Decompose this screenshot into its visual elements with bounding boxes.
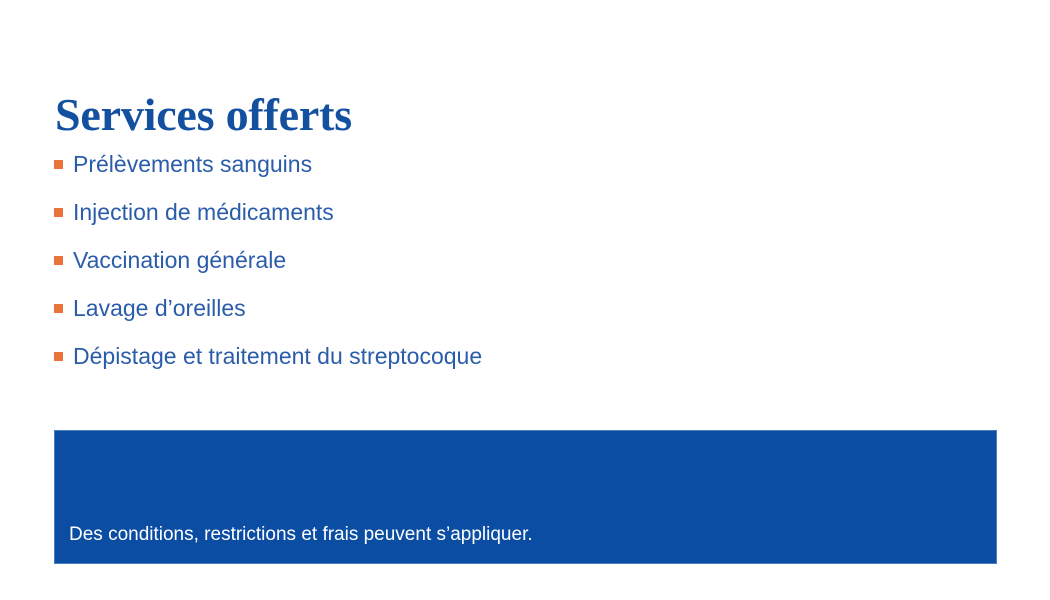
list-item: Vaccination générale [54,236,954,284]
list-item: Lavage d’oreilles [54,284,954,332]
list-item-label: Prélèvements sanguins [73,149,312,179]
bullet-square-icon [54,208,63,217]
list-item-label: Dépistage et traitement du streptocoque [73,341,482,371]
list-item-label: Vaccination générale [73,245,286,275]
bullet-square-icon [54,352,63,361]
bullet-square-icon [54,304,63,313]
bullet-square-icon [54,160,63,169]
slide-canvas: Services offerts Prélèvements sanguins I… [0,0,1050,600]
page-title: Services offerts [55,89,352,141]
bullet-square-icon [54,256,63,265]
disclaimer-box: Des conditions, restrictions et frais pe… [54,430,997,564]
list-item: Prélèvements sanguins [54,140,954,188]
list-item: Injection de médicaments [54,188,954,236]
disclaimer-text: Des conditions, restrictions et frais pe… [69,522,533,548]
list-item-label: Lavage d’oreilles [73,293,246,323]
list-item-label: Injection de médicaments [73,197,334,227]
list-item: Dépistage et traitement du streptocoque [54,332,954,380]
services-list: Prélèvements sanguins Injection de médic… [54,140,954,380]
